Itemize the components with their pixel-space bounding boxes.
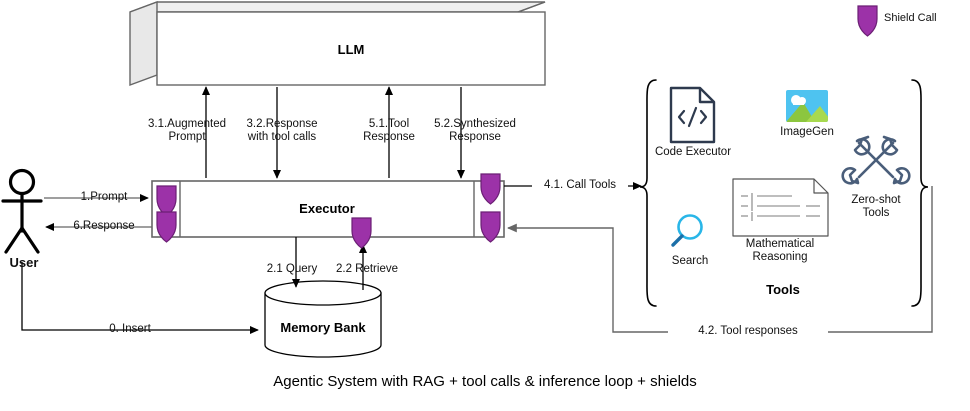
shield-icon-legend xyxy=(858,6,877,36)
tool-label-image-gen: ImageGen xyxy=(768,126,846,139)
zeroshot-line-2: Tools xyxy=(863,207,890,219)
tool-label-mathematical-reasoning: MathematicalReasoning xyxy=(730,238,830,264)
edge-label-insert: 0. Insert xyxy=(75,323,185,336)
math-line-2: Reasoning xyxy=(753,251,808,263)
edge-label-tool-responses: 4.2. Tool responses xyxy=(668,325,828,338)
edge-label-response-with-tool-calls: 3.2.Responsewith tool calls xyxy=(232,118,332,144)
edge-label-query: 2.1 Query xyxy=(252,263,332,276)
legend-shield-label: Shield Call xyxy=(884,12,937,24)
edge-label-retrieve: 2.2 Retrieve xyxy=(325,263,409,276)
edge-label-call-tools: 4.1. Call Tools xyxy=(532,179,628,192)
code-document-icon xyxy=(671,88,714,142)
tools-left-brace xyxy=(640,80,656,306)
memory-bank-label: Memory Bank xyxy=(265,320,381,335)
llm-label: LLM xyxy=(157,42,545,57)
diagram-canvas: LLM Executor Memory Bank User 1.Prompt 6… xyxy=(0,0,970,411)
user-figure-icon xyxy=(3,171,41,253)
tool-label-code-executor: Code Executor xyxy=(648,146,738,159)
tools-group-label: Tools xyxy=(728,282,838,297)
shield-icon-executor-center xyxy=(352,218,371,248)
math-line-1: Mathematical xyxy=(746,238,814,250)
edge-label-tool-response: 5.1.ToolResponse xyxy=(345,118,433,144)
tool-label-search: Search xyxy=(662,255,718,268)
diagram-caption: Agentic System with RAG + tool calls & i… xyxy=(0,373,970,390)
image-gen-icon xyxy=(786,90,832,122)
zeroshot-line-1: Zero-shot xyxy=(851,194,900,206)
edge-label-prompt: 1.Prompt xyxy=(58,191,150,204)
executor-label: Executor xyxy=(180,201,474,216)
edge-insert xyxy=(22,262,258,330)
magnifier-icon xyxy=(673,216,702,246)
memory-bank-node[interactable] xyxy=(265,281,381,357)
crossed-wrenches-icon xyxy=(843,137,910,183)
edge-label-synthesized-response: 5.2.SynthesizedResponse xyxy=(422,118,528,144)
edge-label-response: 6.Response xyxy=(56,220,152,233)
tool-label-zero-shot-tools: Zero-shotTools xyxy=(838,194,914,220)
diagram-vector-layer xyxy=(0,0,970,411)
edge-label-augmented-prompt: 3.1.AugmentedPrompt xyxy=(141,118,233,144)
math-document-icon xyxy=(733,179,828,236)
tools-right-brace xyxy=(912,80,928,306)
user-label: User xyxy=(2,256,46,269)
